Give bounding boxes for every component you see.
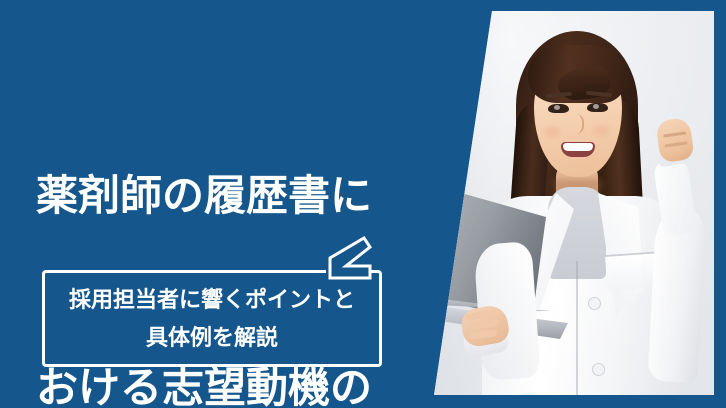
person-illustration	[420, 11, 714, 395]
nose	[572, 114, 584, 134]
lab-coat-button-lower	[592, 363, 605, 376]
eye-right	[587, 103, 608, 112]
pharmacist-photo	[420, 11, 714, 395]
headline-line-1: 薬剤師の履歴書に	[36, 164, 436, 228]
lab-coat-button-upper	[588, 297, 601, 310]
mouth	[561, 142, 595, 157]
subtitle-callout: 採用担当者に響くポイントと 具体例を解説	[42, 252, 382, 367]
subtitle-text: 採用担当者に響くポイントと 具体例を解説	[42, 270, 382, 367]
article-thumbnail-banner: 薬剤師の履歴書に おける志望動機の 書き方 採用担当者に響くポイントと 具体例を…	[0, 0, 726, 408]
hair-fringe	[528, 45, 628, 103]
fist-gesture	[655, 117, 695, 163]
subtitle-line-1: 採用担当者に響くポイントと	[69, 281, 355, 319]
lab-coat-seam	[576, 261, 578, 395]
teeth	[563, 143, 593, 151]
cheek-left	[544, 127, 560, 136]
subtitle-line-2: 具体例を解説	[146, 319, 278, 357]
eye-left	[548, 104, 569, 113]
cheek-right	[593, 126, 609, 135]
